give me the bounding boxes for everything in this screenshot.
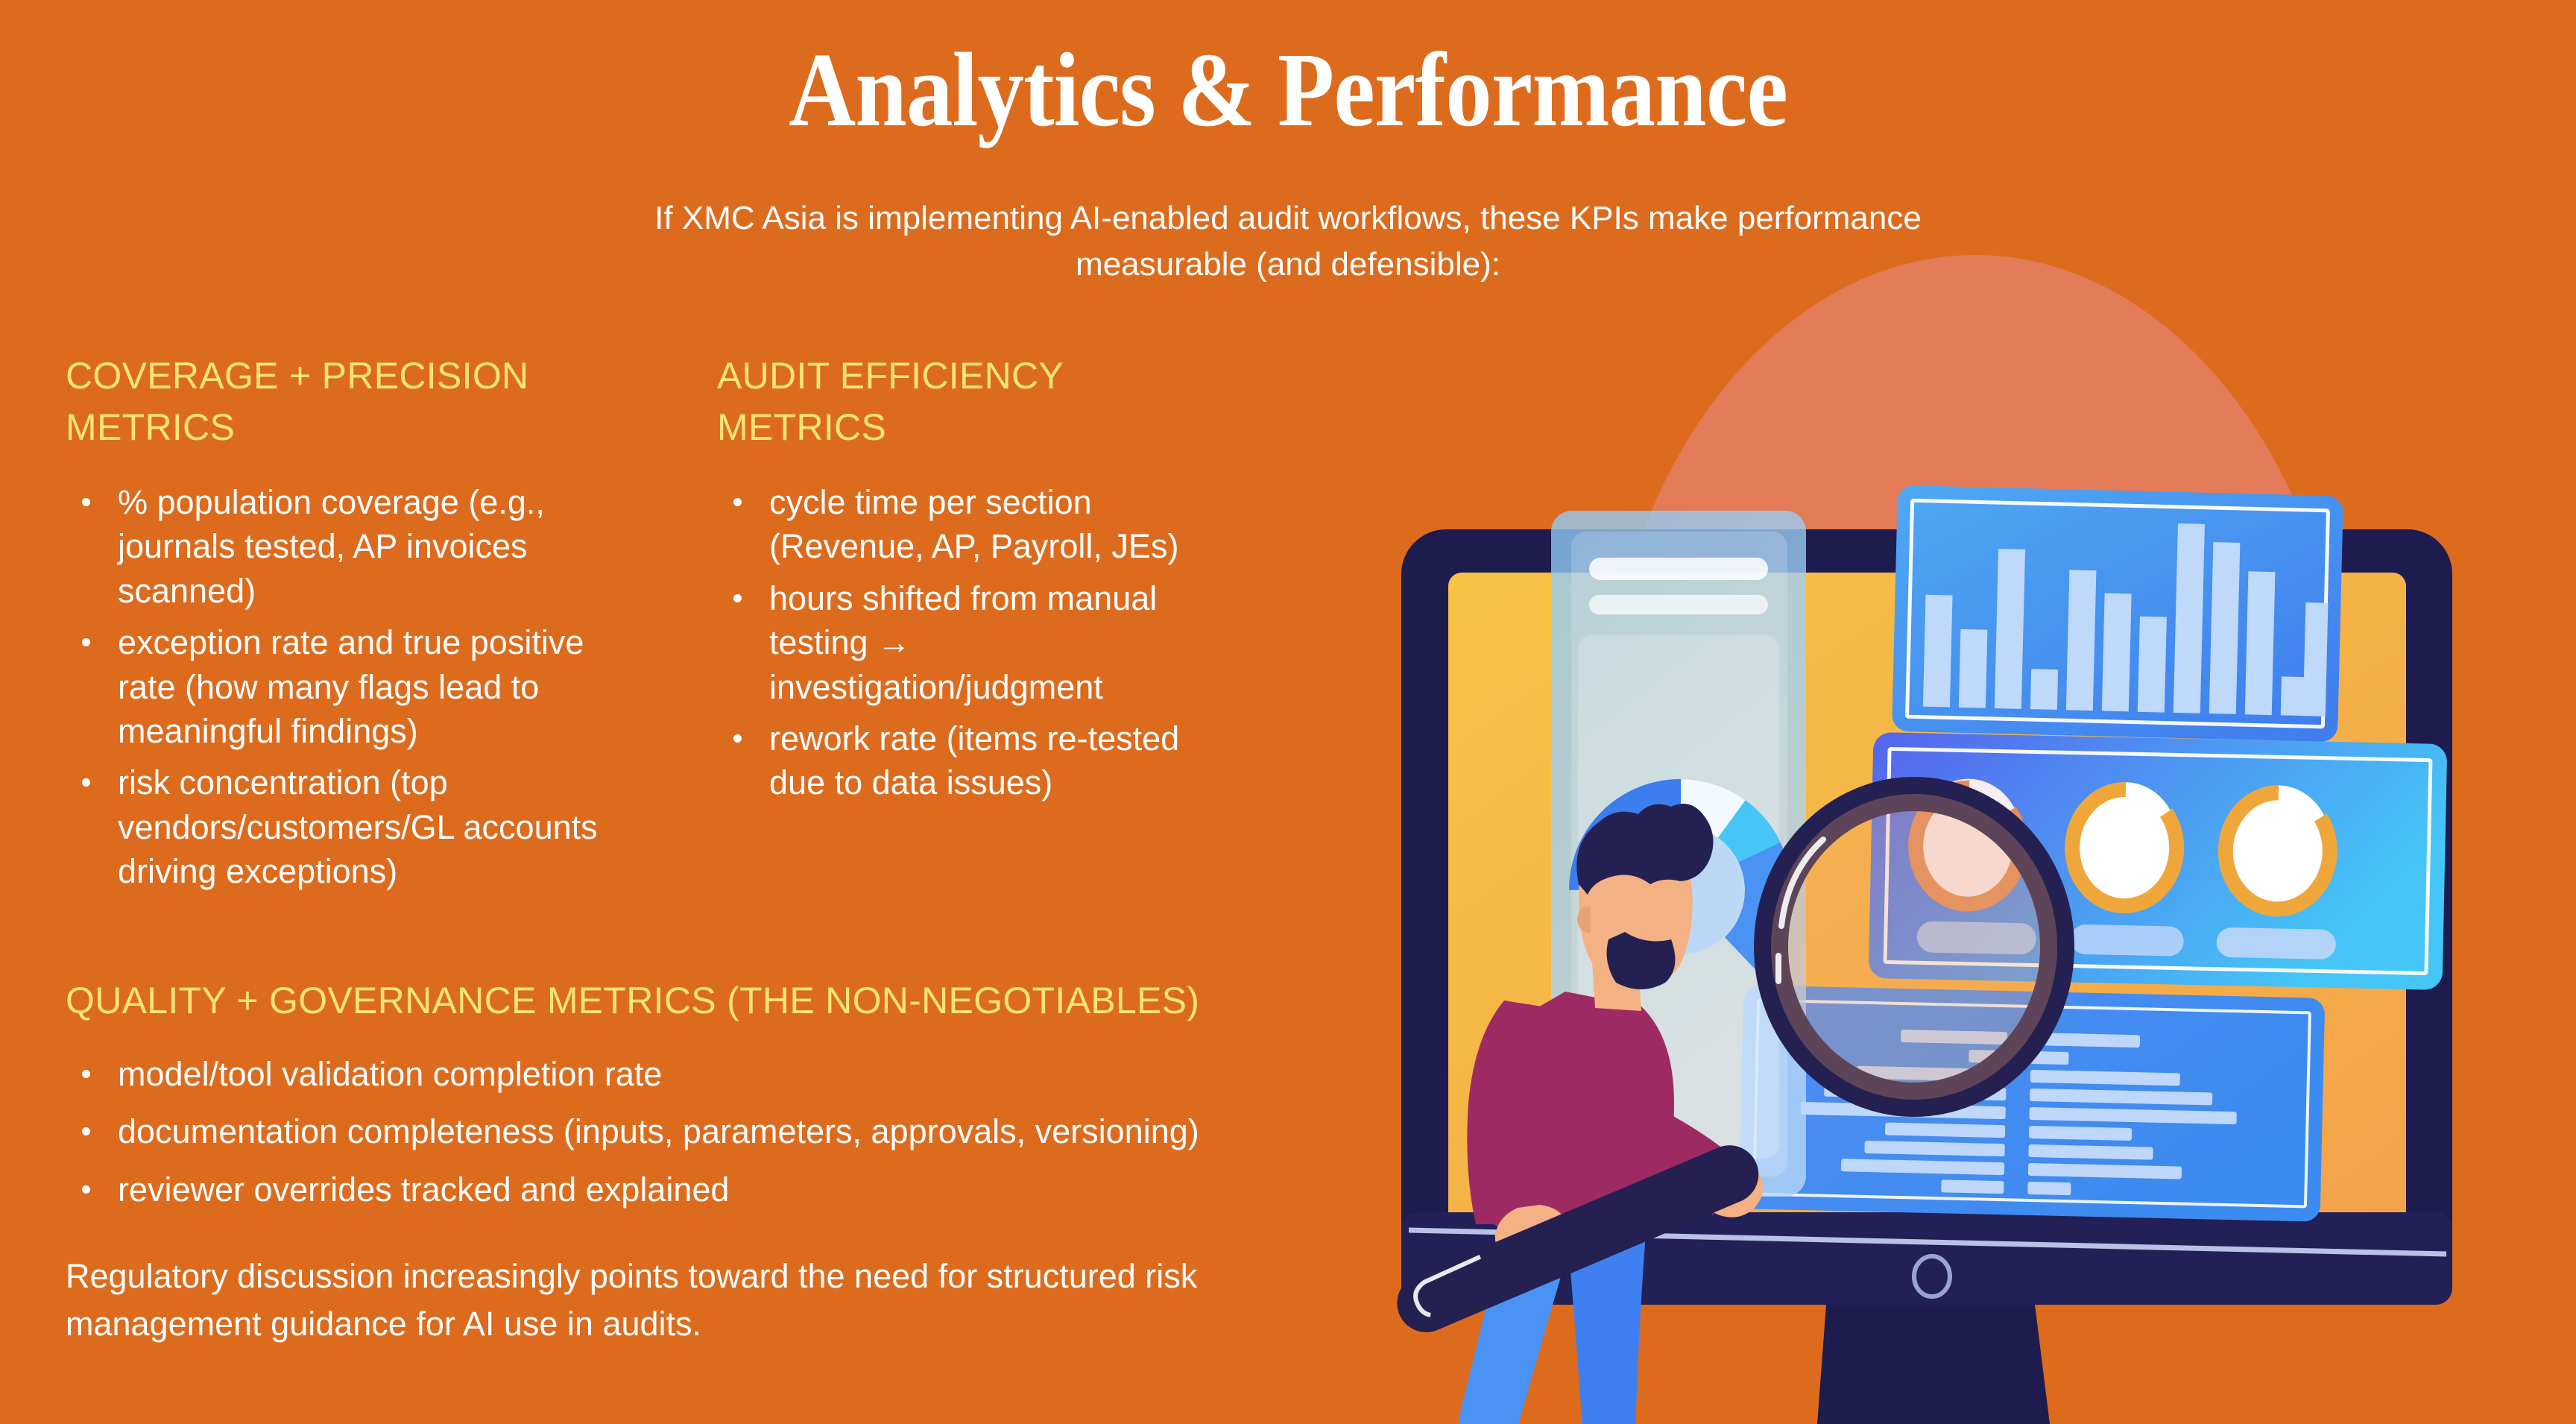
section-heading-governance: QUALITY + GOVERNANCE METRICS (THE NON-NE…: [66, 977, 1407, 1025]
section-coverage-precision-metrics: COVERAGE + PRECISION METRICS % populatio…: [66, 350, 632, 901]
list-item: cycle time per section (Revenue, AP, Pay…: [717, 480, 1239, 569]
list-item: documentation completeness (inputs, para…: [66, 1109, 1407, 1153]
gauge-label-bar: [2070, 924, 2184, 957]
card-subtitle-bar: [1589, 595, 1768, 614]
list-item: reviewer overrides tracked and explained: [66, 1168, 1407, 1212]
card-title-bar: [1589, 558, 1768, 580]
list-item: % population coverage (e.g., journals te…: [66, 480, 632, 613]
list-item: rework rate (items re-tested due to data…: [717, 716, 1239, 805]
list-item: risk concentration (top vendors/customer…: [66, 760, 632, 893]
section-quality-governance-metrics: QUALITY + GOVERNANCE METRICS (THE NON-NE…: [66, 977, 1407, 1225]
list-item: hours shifted from manual testing → inve…: [717, 576, 1239, 709]
section-audit-efficiency-metrics: AUDIT EFFICIENCY METRICS cycle time per …: [717, 350, 1239, 813]
section-heading-coverage: COVERAGE + PRECISION METRICS: [66, 350, 632, 453]
footnote-text: Regulatory discussion increasingly point…: [66, 1253, 1400, 1348]
bullet-list-efficiency: cycle time per section (Revenue, AP, Pay…: [717, 480, 1239, 805]
bar-chart-panel: [1892, 485, 2343, 743]
gauge-label-bar: [2216, 927, 2336, 960]
bullet-list-coverage: % population coverage (e.g., journals te…: [66, 480, 632, 894]
list-item: model/tool validation completion rate: [66, 1052, 1407, 1096]
illustration-data-analyst: [1379, 246, 2576, 1424]
magnifier-lens: [1771, 794, 2057, 1100]
content-area: COVERAGE + PRECISION METRICS % populatio…: [0, 0, 1416, 1424]
bullet-list-governance: model/tool validation completion rate do…: [66, 1052, 1407, 1212]
list-item: exception rate and true positive rate (h…: [66, 620, 632, 753]
section-heading-efficiency: AUDIT EFFICIENCY METRICS: [717, 350, 1239, 453]
monitor-stand-neck: [1815, 1305, 2053, 1424]
